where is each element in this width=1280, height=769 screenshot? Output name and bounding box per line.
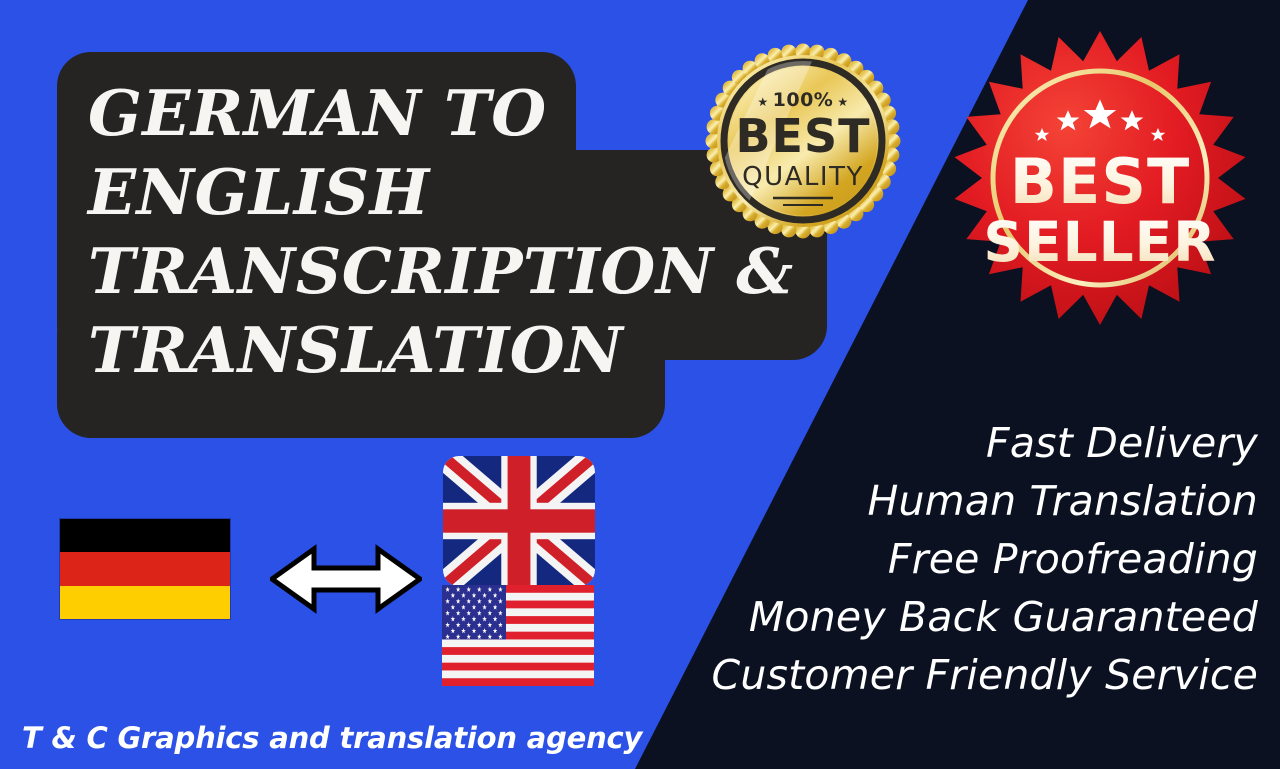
poster-canvas: GERMAN TO ENGLISH TRANSCRIPTION & TRANSL… xyxy=(0,0,1280,769)
feature-item: Customer Friendly Service xyxy=(638,646,1258,704)
feature-item: Money Back Guaranteed xyxy=(638,588,1258,646)
svg-text:BEST: BEST xyxy=(1010,145,1191,218)
best-seller-starburst-icon: BEST SELLER xyxy=(950,28,1250,328)
svg-text:BEST: BEST xyxy=(736,109,871,163)
features-list: Fast Delivery Human Translation Free Pro… xyxy=(638,414,1258,704)
feature-item: Fast Delivery xyxy=(638,414,1258,472)
flag-band-black xyxy=(60,519,230,552)
svg-text:QUALITY: QUALITY xyxy=(742,162,864,192)
feature-item: Human Translation xyxy=(638,472,1258,530)
feature-item: Free Proofreading xyxy=(638,530,1258,588)
brand-footer: T & C Graphics and translation agency xyxy=(22,721,642,755)
flag-band-gold xyxy=(60,586,230,619)
svg-text:SELLER: SELLER xyxy=(983,210,1216,274)
flag-band-red xyxy=(60,552,230,585)
german-flag xyxy=(60,519,230,619)
quality-seal-icon: ★100%★ BEST QUALITY xyxy=(700,38,906,244)
united-states-flag xyxy=(442,585,594,686)
double-headed-arrow-icon xyxy=(270,543,422,615)
united-kingdom-flag xyxy=(443,456,595,586)
